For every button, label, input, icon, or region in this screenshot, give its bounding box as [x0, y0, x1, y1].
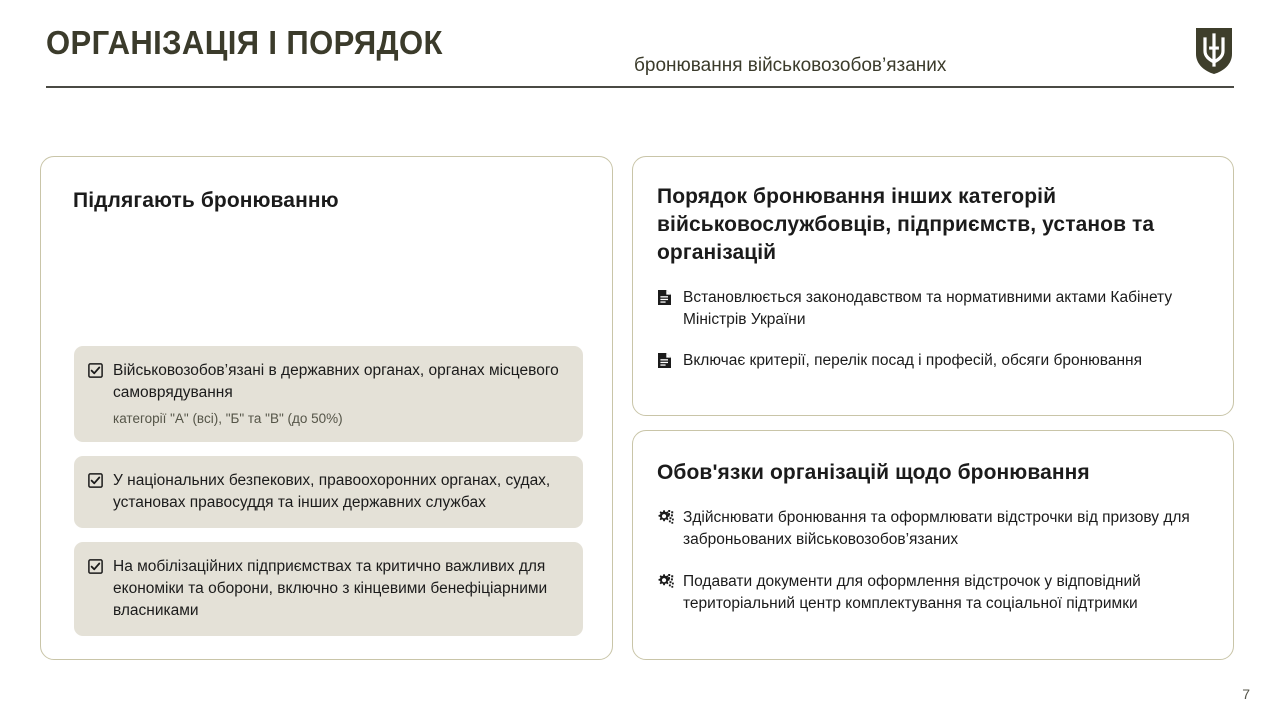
check-row: У національних безпекових, правоохоронни…: [88, 470, 567, 514]
page-title: ОРГАНІЗАЦІЯ І ПОРЯДОК: [46, 26, 443, 59]
list-item-subtext: категорії "А" (всі), "Б" та "В" (до 50%): [113, 410, 567, 428]
check-row: На мобілізаційних підприємствах та крити…: [88, 556, 567, 622]
list-item-label: Встановлюється законодавством та нормати…: [683, 287, 1217, 331]
document-icon: [657, 352, 672, 369]
list-item[interactable]: Подавати документи для оформлення відстр…: [657, 571, 1217, 615]
card-heading-right-top: Порядок бронювання інших категорій війсь…: [657, 183, 1217, 267]
document-icon: [657, 289, 672, 306]
page-number: 7: [1242, 687, 1250, 701]
bullet-list-right-bottom: Здійснювати бронювання та оформлювати ві…: [657, 507, 1217, 615]
list-item[interactable]: Встановлюється законодавством та нормати…: [657, 287, 1217, 331]
checkbox-checked-icon: [88, 473, 103, 488]
checkbox-checked-icon: [88, 363, 103, 378]
card-heading-left: Підлягають бронюванню: [73, 187, 543, 215]
header-divider: [46, 86, 1234, 88]
gears-icon: [657, 509, 672, 526]
list-item[interactable]: На мобілізаційних підприємствах та крити…: [74, 542, 583, 636]
list-item-label: Здійснювати бронювання та оформлювати ві…: [683, 507, 1217, 551]
gears-icon: [657, 573, 672, 590]
card-reservation-procedure: Порядок бронювання інших категорій війсь…: [632, 156, 1234, 416]
card-organization-duties: Обов'язки організацій щодо бронювання: [632, 430, 1234, 660]
page-subtitle: бронювання військовозобов’язаних: [634, 56, 946, 75]
card-subject-to-reservation: Підлягають бронюванню Військовозобов’яза…: [40, 156, 613, 660]
list-item-label: Військовозобов’язані в державних органах…: [113, 360, 567, 404]
list-item-label: Включає критерії, перелік посад і профес…: [683, 350, 1142, 372]
list-item[interactable]: Здійснювати бронювання та оформлювати ві…: [657, 507, 1217, 551]
slide-header: ОРГАНІЗАЦІЯ І ПОРЯДОК бронювання військо…: [46, 26, 1234, 92]
list-item[interactable]: Включає критерії, перелік посад і профес…: [657, 350, 1217, 372]
check-row: Військовозобов’язані в державних органах…: [88, 360, 567, 404]
card-heading-right-bottom: Обов'язки організацій щодо бронювання: [657, 459, 1217, 487]
ukraine-trident-shield-icon: [1194, 26, 1234, 76]
bullet-list-right-top: Встановлюється законодавством та нормати…: [657, 287, 1217, 372]
list-item-label: У національних безпекових, правоохоронни…: [113, 470, 567, 514]
list-item[interactable]: У національних безпекових, правоохоронни…: [74, 456, 583, 528]
list-item-label: На мобілізаційних підприємствах та крити…: [113, 556, 567, 622]
list-item[interactable]: Військовозобов’язані в державних органах…: [74, 346, 583, 442]
slide-root: ОРГАНІЗАЦІЯ І ПОРЯДОК бронювання військо…: [0, 0, 1280, 719]
checkbox-checked-icon: [88, 559, 103, 574]
list-item-label: Подавати документи для оформлення відстр…: [683, 571, 1217, 615]
checklist-left: Військовозобов’язані в державних органах…: [74, 346, 583, 636]
